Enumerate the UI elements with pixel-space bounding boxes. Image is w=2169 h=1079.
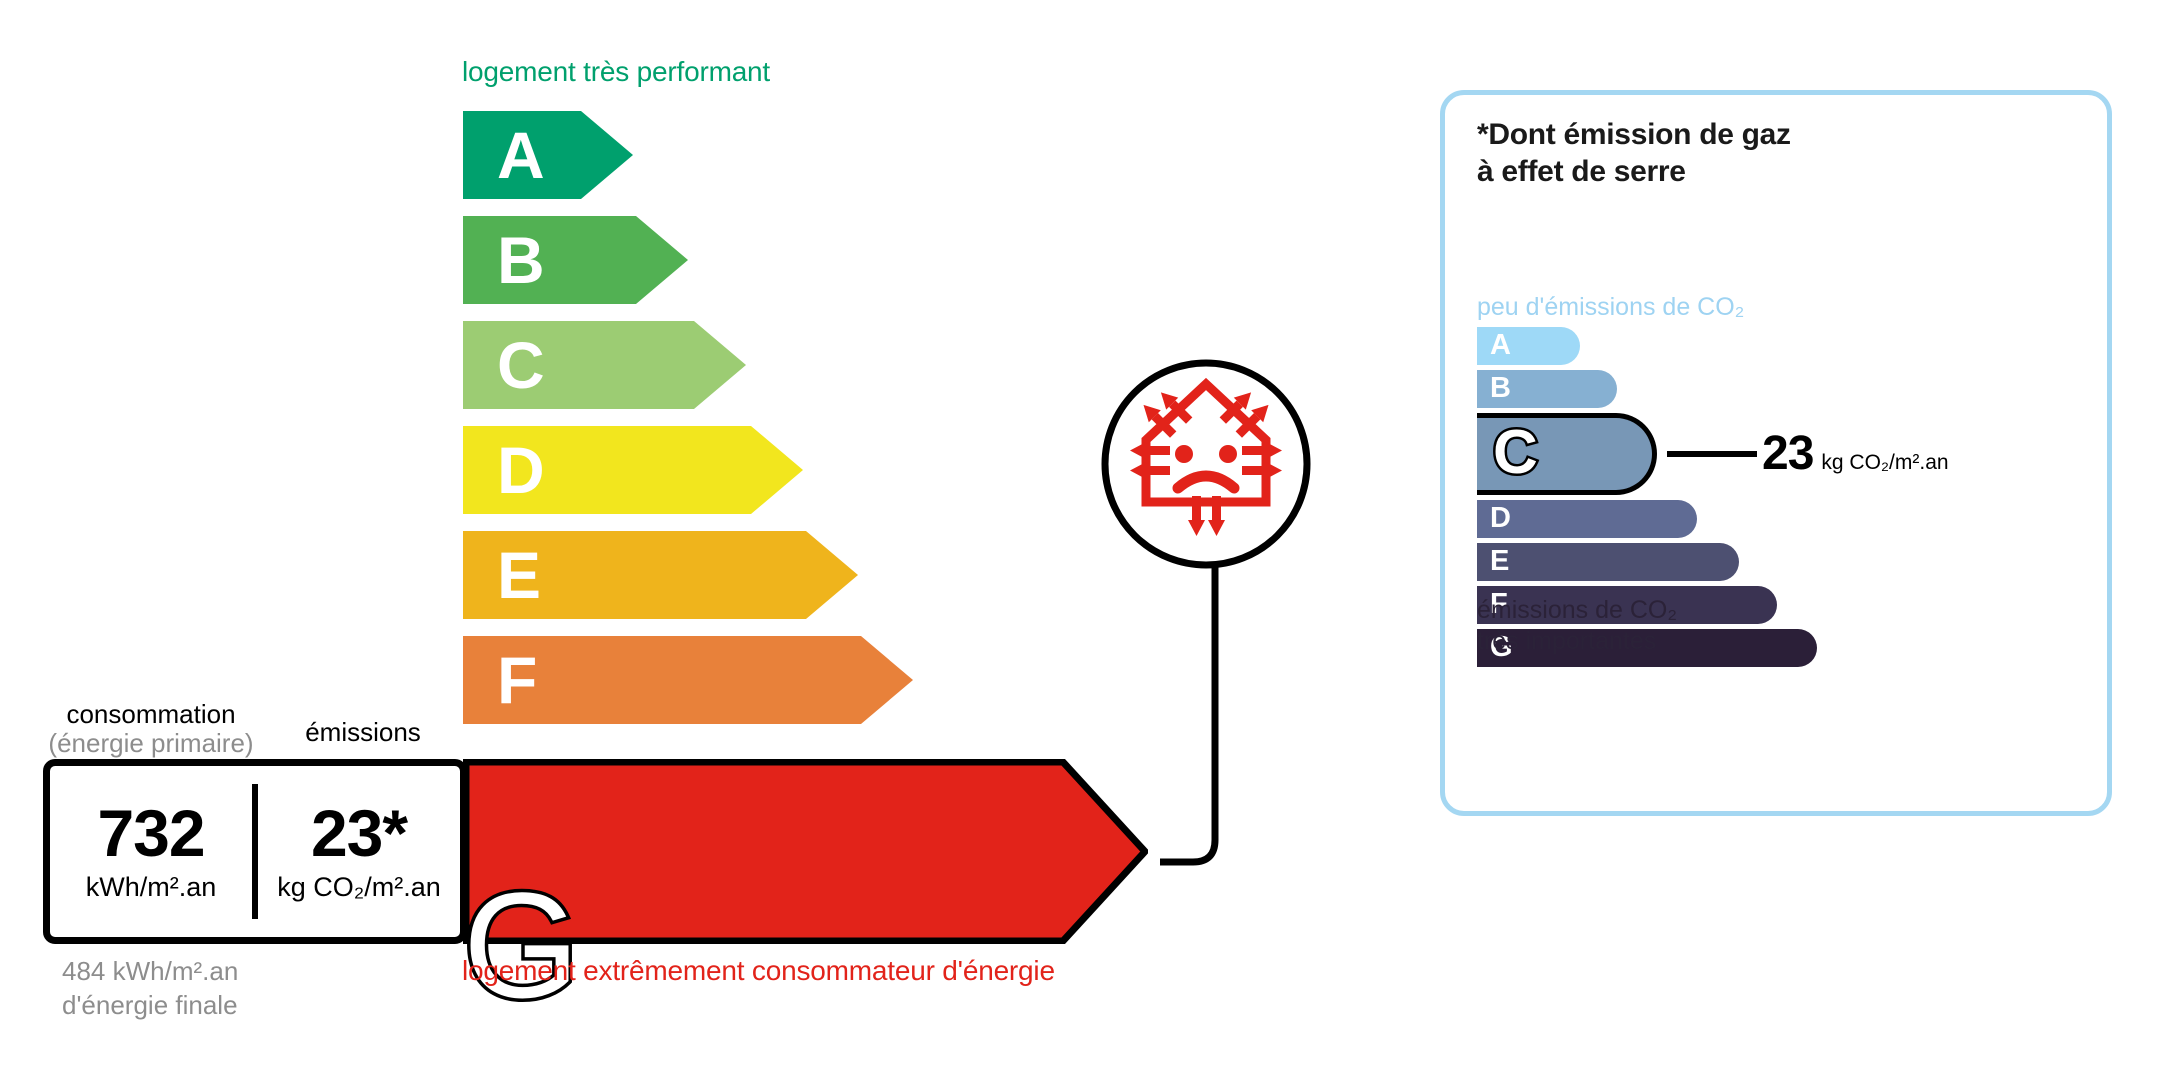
emissions-value: 23* [311, 800, 407, 866]
consumption-value-cell: 732 kWh/m².an [50, 766, 252, 937]
co2-value-callout: 23kg CO₂/m².an [1762, 430, 1949, 478]
energy-band-D-letter: D [497, 437, 545, 503]
energy-band-A-letter: A [497, 122, 545, 188]
sad-house-badge[interactable] [1100, 358, 1312, 570]
co2-band-C[interactable]: C [1477, 413, 1657, 495]
co2-band-E[interactable]: E [1477, 543, 1739, 581]
energy-band-C[interactable]: C [463, 321, 746, 409]
energy-band-B[interactable]: B [463, 216, 688, 304]
co2-emissions-panel: *Dont émission de gaz à effet de serre p… [1440, 90, 2112, 816]
badge-ring [1105, 363, 1307, 565]
co2-band-B-letter: B [1490, 374, 1511, 403]
consumption-unit: kWh/m².an [86, 872, 217, 903]
co2-band-D-letter: D [1490, 504, 1511, 533]
co2-band-E-letter: E [1490, 547, 1509, 576]
co2-band-row-E: E [1477, 543, 2077, 581]
energy-band-E[interactable]: E [463, 531, 858, 619]
co2-bottom-caption-line1: émissions de CO₂ [1477, 595, 1677, 626]
co2-value-unit: kg CO₂/m².an [1821, 451, 1948, 475]
consumption-value: 732 [97, 800, 204, 866]
co2-band-B[interactable]: B [1477, 370, 1617, 408]
energy-band-A[interactable]: A [463, 111, 633, 199]
energy-band-G[interactable]: G [463, 759, 1148, 944]
emissions-unit: kg CO₂/m².an [277, 872, 441, 903]
emissions-value-cell: 23* kg CO₂/m².an [258, 766, 460, 937]
co2-value-leader-line [1667, 451, 1757, 457]
energy-band-E-letter: E [497, 542, 541, 608]
final-energy-caption: d'énergie finale [62, 988, 238, 1022]
energy-band-G-letter: G [463, 859, 1148, 1032]
emissions-label: émissions [268, 718, 458, 747]
co2-panel-title-line2: à effet de serre [1477, 154, 1791, 191]
energy-band-D[interactable]: D [463, 426, 803, 514]
final-energy-value: 484 kWh/m².an [62, 954, 238, 988]
emissions-label-title: émissions [268, 718, 458, 747]
energy-band-F-letter: F [497, 647, 537, 713]
co2-band-A[interactable]: A [1477, 327, 1580, 365]
co2-band-row-A: A [1477, 327, 2077, 365]
co2-band-row-B: B [1477, 370, 2077, 408]
ladder-top-caption: logement très performant [462, 56, 770, 88]
co2-band-A-letter: A [1490, 331, 1511, 360]
consumption-label-title: consommation [43, 700, 259, 729]
energy-band-A-shape [463, 111, 633, 199]
energy-band-F[interactable]: F [463, 636, 913, 724]
co2-panel-title-line1: *Dont émission de gaz [1477, 117, 1791, 154]
badge-connector-line [1120, 540, 1320, 900]
co2-band-D[interactable]: D [1477, 500, 1697, 538]
ladder-bottom-caption: logement extrêmement consommateur d'éner… [462, 955, 1055, 987]
co2-value-number: 23 [1762, 430, 1813, 478]
co2-bottom-caption-line2: très importantes [1477, 626, 1677, 657]
co2-bottom-caption: émissions de CO₂ très importantes [1477, 595, 1677, 656]
consumption-label-subtitle: (énergie primaire) [43, 729, 259, 758]
energy-band-C-letter: C [497, 332, 545, 398]
co2-band-C-letter: C [1493, 422, 1538, 484]
energy-rating-chart: logement très performant ABCDEF G consom… [0, 0, 1340, 1079]
dpe-value-box: 732 kWh/m².an 23* kg CO₂/m².an [43, 759, 467, 944]
energy-band-B-letter: B [497, 227, 545, 293]
co2-top-caption: peu d'émissions de CO₂ [1477, 293, 1744, 322]
consumption-label: consommation (énergie primaire) [43, 700, 259, 758]
co2-band-row-D: D [1477, 500, 2077, 538]
co2-panel-title: *Dont émission de gaz à effet de serre [1477, 117, 1791, 190]
co2-band-row-C: C23kg CO₂/m².an [1477, 413, 2077, 495]
final-energy-note: 484 kWh/m².an d'énergie finale [62, 954, 238, 1023]
